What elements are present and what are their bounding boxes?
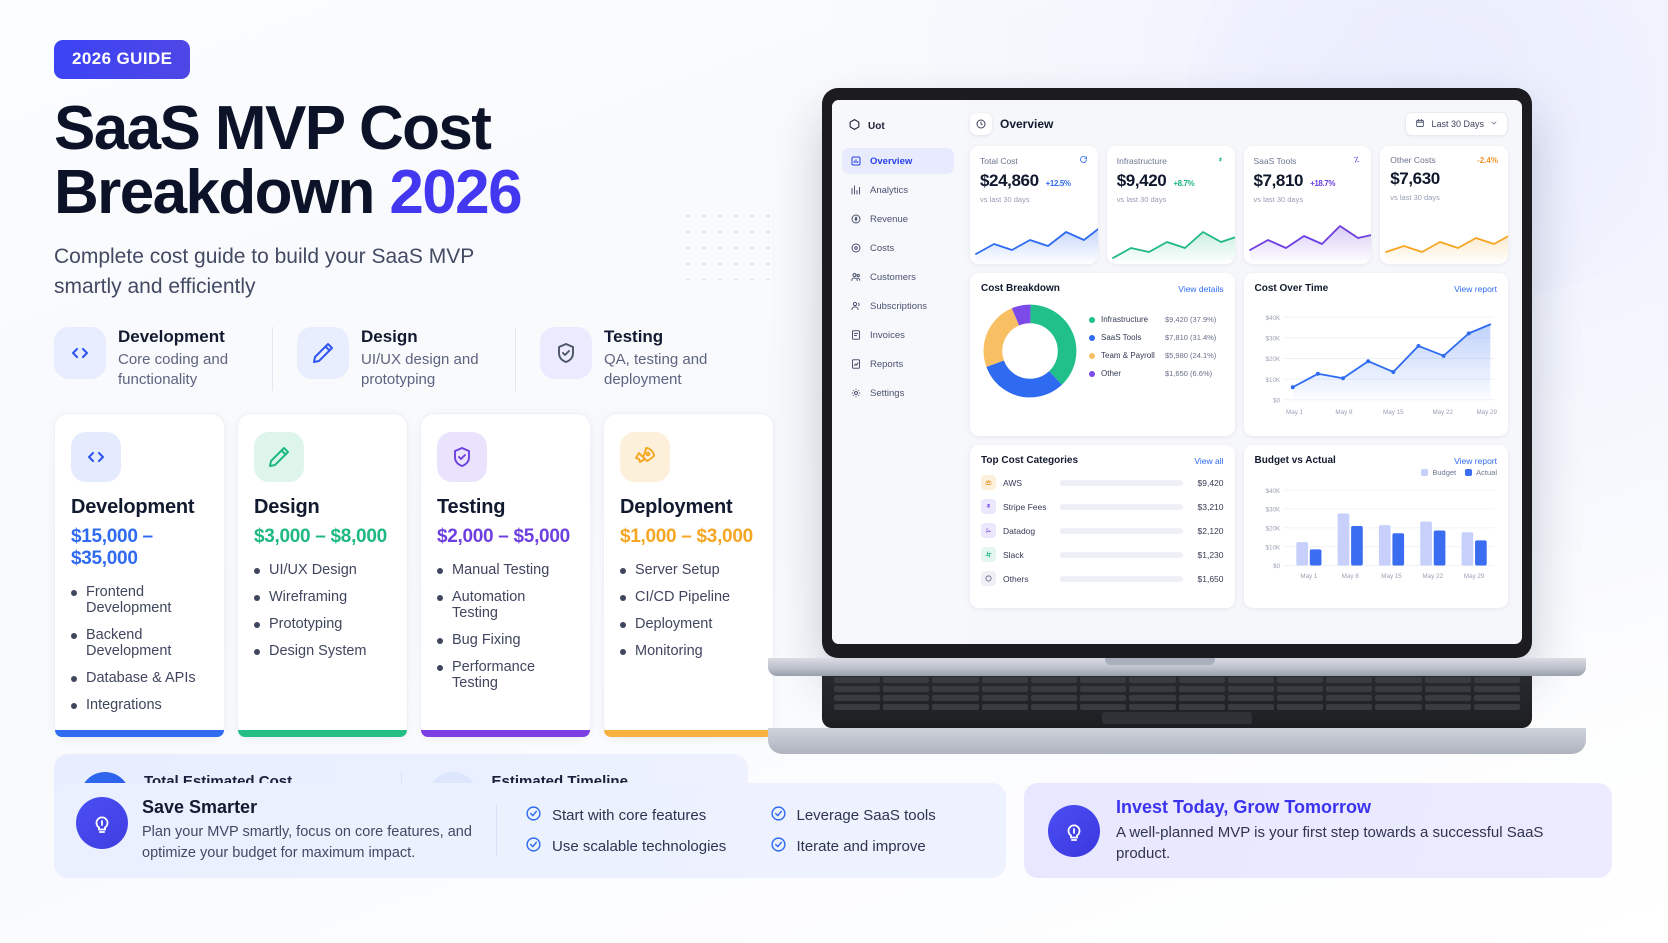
kpi-sub: vs last 30 days xyxy=(1117,195,1225,204)
tip-label: Start with core features xyxy=(552,807,706,824)
panel-title: Budget vs Actual xyxy=(1255,455,1336,466)
kpi-label: Other Costs xyxy=(1390,155,1435,165)
category-row-aws: AWS $9,420 xyxy=(981,475,1224,490)
list-item: Prototyping xyxy=(254,616,391,632)
sidebar-item-overview[interactable]: Overview xyxy=(842,148,954,174)
tip-item: Iterate and improve xyxy=(770,836,985,857)
cost-cards: Development $15,000 – $35,000 Frontend D… xyxy=(54,413,774,738)
view-details-link[interactable]: View details xyxy=(1178,284,1223,294)
shield-check-icon xyxy=(540,327,592,379)
category-name: Stripe Fees xyxy=(1003,502,1053,512)
legend-item-budget: Budget xyxy=(1421,468,1456,477)
datadog-icon xyxy=(981,523,996,538)
sidebar-label: Revenue xyxy=(870,214,908,225)
title-line-1: SaaS MVP Cost xyxy=(54,94,490,163)
save-smarter-title: Save Smarter xyxy=(142,797,480,818)
sidebar-label: Costs xyxy=(870,243,894,254)
sidebar-item-settings[interactable]: Settings xyxy=(842,380,954,406)
legend-label: Actual xyxy=(1476,468,1497,477)
kpi-label: Infrastructure xyxy=(1117,156,1167,166)
kpi-value: $24,860 xyxy=(980,171,1039,191)
sidebar-item-invoices[interactable]: Invoices xyxy=(842,322,954,348)
y-tick: $40K xyxy=(1265,315,1280,322)
kpi-cards: Total Cost $24,860 +12.5% vs last 30 day… xyxy=(970,146,1508,264)
tip-label: Leverage SaaS tools xyxy=(797,807,936,824)
list-item: Frontend Development xyxy=(71,584,208,616)
bars-may-1 xyxy=(1296,542,1321,565)
cost-card-items: Frontend Development Backend Development… xyxy=(71,584,208,713)
check-circle-icon xyxy=(525,836,542,857)
y-tick: $10K xyxy=(1265,544,1280,551)
x-tick: May 15 xyxy=(1381,573,1402,580)
feature-title: Design xyxy=(361,327,493,347)
y-tick: $10K xyxy=(1265,377,1280,384)
cost-card-price: $3,000 – $8,000 xyxy=(254,526,391,548)
kpi-card-infrastructure[interactable]: Infrastructure $9,420 +8.7% vs last 30 d… xyxy=(1107,146,1235,264)
panels-row-1: Cost Breakdown View details xyxy=(970,273,1508,436)
y-tick: $30K xyxy=(1265,507,1280,514)
y-tick: $30K xyxy=(1265,336,1280,343)
panel-top-cost-categories: Top Cost Categories View all AWS $ xyxy=(970,445,1235,608)
sparkline-chart xyxy=(970,218,1098,264)
x-tick: May 8 xyxy=(1341,573,1359,580)
list-item: Database & APIs xyxy=(71,670,208,686)
dashboard-topbar: Overview Last 30 Days xyxy=(970,112,1508,136)
server-icon xyxy=(1216,155,1225,167)
lightbulb-icon xyxy=(1048,805,1100,857)
donut-chart xyxy=(981,302,1079,400)
tip-item: Leverage SaaS tools xyxy=(770,805,985,826)
panel-head: Cost Breakdown View details xyxy=(981,283,1224,294)
feature-design: Design UI/UX design and prototyping xyxy=(272,327,515,391)
sidebar-label: Settings xyxy=(870,388,904,399)
view-report-link[interactable]: View report xyxy=(1454,284,1497,294)
kpi-card-other-costs[interactable]: Other Costs -2.4% $7,630 vs last 30 days xyxy=(1380,146,1508,264)
progress-track xyxy=(1060,480,1183,486)
sidebar-item-costs[interactable]: Costs xyxy=(842,235,954,261)
refresh-icon xyxy=(1079,155,1088,167)
legend-swatch xyxy=(1089,353,1095,359)
sidebar-label: Overview xyxy=(870,156,912,167)
laptop-mockup: Uot Overview Analytics xyxy=(700,70,1620,770)
kpi-sub: vs last 30 days xyxy=(1390,193,1498,202)
dashboard-main: Overview Last 30 Days xyxy=(964,100,1522,644)
legend-value: $5,980 (24.1%) xyxy=(1165,351,1216,360)
legend-label: Infrastructure xyxy=(1101,315,1159,324)
overview-icon xyxy=(970,113,992,135)
keyboard-keys xyxy=(834,677,1520,710)
bar-chart: $40K $30K $20K $10K $0 xyxy=(1255,477,1498,593)
donut-legend: Infrastructure $9,420 (37.9%) SaaS Tools… xyxy=(1089,315,1216,387)
cost-card-title: Development xyxy=(71,496,208,519)
feature-title: Development xyxy=(118,327,250,347)
legend-label: SaaS Tools xyxy=(1101,333,1159,342)
x-tick: May 29 xyxy=(1476,409,1497,416)
donut-wrap: Infrastructure $9,420 (37.9%) SaaS Tools… xyxy=(981,302,1224,400)
category-name: Datadog xyxy=(1003,526,1053,536)
kpi-delta: -2.4% xyxy=(1477,156,1498,165)
panel-title: Top Cost Categories xyxy=(981,455,1078,466)
x-tick: May 1 xyxy=(1300,573,1318,580)
tips-grid: Start with core features Leverage SaaS t… xyxy=(496,805,984,857)
list-item: Integrations xyxy=(71,697,208,713)
page-subtitle: Complete cost guide to build your SaaS M… xyxy=(54,242,524,303)
brand-name: Uot xyxy=(868,121,885,132)
sidebar: Uot Overview Analytics xyxy=(832,100,964,644)
laptop-screen-lid: Uot Overview Analytics xyxy=(822,88,1532,658)
poster-canvas: 2026 GUIDE SaaS MVP Cost Breakdown 2026 … xyxy=(0,0,1668,943)
bars-may-29 xyxy=(1461,532,1486,565)
logo-icon xyxy=(848,118,861,134)
panel-title: Cost Breakdown xyxy=(981,283,1060,294)
laptop-deck xyxy=(768,728,1586,754)
legend-swatch xyxy=(1089,317,1095,323)
panel-head: Top Cost Categories View all xyxy=(981,455,1224,466)
sidebar-label: Customers xyxy=(870,272,916,283)
laptop-screen: Uot Overview Analytics xyxy=(832,100,1522,644)
tip-label: Iterate and improve xyxy=(797,838,926,855)
category-row-stripe-fees: Stripe Fees $3,210 xyxy=(981,499,1224,514)
kpi-label: SaaS Tools xyxy=(1254,156,1297,166)
kpi-delta: +8.7% xyxy=(1173,179,1194,188)
code-icon xyxy=(54,327,106,379)
category-value: $3,210 xyxy=(1190,502,1224,512)
category-row-datadog: Datadog $2,120 xyxy=(981,523,1224,538)
progress-track xyxy=(1060,528,1183,534)
category-name: Others xyxy=(1003,574,1053,584)
page-title: SaaS MVP Cost Breakdown 2026 xyxy=(54,97,774,226)
category-row-others: Others $1,650 xyxy=(981,571,1224,586)
y-tick: $40K xyxy=(1265,488,1280,495)
kpi-value: $9,420 xyxy=(1117,171,1167,191)
sparkline-chart xyxy=(1244,218,1372,264)
kpi-label: Total Cost xyxy=(980,156,1018,166)
feature-desc: UI/UX design and prototyping xyxy=(361,350,493,391)
sparkline-chart xyxy=(1107,218,1235,264)
cost-card-price: $15,000 – $35,000 xyxy=(71,526,208,570)
list-item: Manual Testing xyxy=(437,562,574,578)
save-smarter-desc: Plan your MVP smartly, focus on core fea… xyxy=(142,822,480,863)
shield-check-icon xyxy=(437,432,487,482)
rocket-icon xyxy=(620,432,670,482)
list-item: Backend Development xyxy=(71,627,208,659)
title-line-2: Breakdown xyxy=(54,158,389,227)
legend-label: Team & Payroll xyxy=(1101,351,1159,360)
kpi-value: $7,630 xyxy=(1390,169,1440,189)
chevron-down-icon xyxy=(1490,119,1498,129)
kpi-delta: +18.7% xyxy=(1310,179,1335,188)
list-item: Performance Testing xyxy=(437,659,574,691)
panels-row-2: Top Cost Categories View all AWS $ xyxy=(970,445,1508,608)
kpi-head: SaaS Tools xyxy=(1254,155,1362,167)
x-tick: May 8 xyxy=(1335,409,1353,416)
panel-head: Cost Over Time View report xyxy=(1255,283,1498,294)
list-item: Wireframing xyxy=(254,589,391,605)
view-report-link[interactable]: View report xyxy=(1454,456,1497,466)
invest-title: Invest Today, Grow Tomorrow xyxy=(1116,797,1588,818)
pen-icon xyxy=(297,327,349,379)
chart-legend: Budget Actual xyxy=(1255,468,1498,477)
code-icon xyxy=(71,432,121,482)
sidebar-nav: Overview Analytics Revenue xyxy=(842,148,954,406)
laptop-keyboard xyxy=(822,670,1532,728)
cost-card-development[interactable]: Development $15,000 – $35,000 Frontend D… xyxy=(54,413,225,738)
laptop-notch xyxy=(1105,658,1215,665)
sidebar-item-subscriptions[interactable]: Subscriptions xyxy=(842,293,954,319)
feature-development: Development Core coding and functionalit… xyxy=(54,327,272,391)
category-value: $9,420 xyxy=(1190,478,1224,488)
sidebar-item-analytics[interactable]: Analytics xyxy=(842,177,954,203)
list-item: UI/UX Design xyxy=(254,562,391,578)
legend-value: $7,810 (31.4%) xyxy=(1165,333,1216,342)
category-value: $1,650 xyxy=(1190,574,1224,584)
legend-item: SaaS Tools $7,810 (31.4%) xyxy=(1089,333,1216,342)
progress-track xyxy=(1060,552,1183,558)
legend-swatch xyxy=(1089,335,1095,341)
legend-value: $9,420 (37.9%) xyxy=(1165,315,1216,324)
category-value: $1,230 xyxy=(1190,550,1224,560)
tip-item: Start with core features xyxy=(525,805,740,826)
category-name: Slack xyxy=(1003,550,1053,560)
pen-icon xyxy=(254,432,304,482)
y-tick: $0 xyxy=(1273,398,1280,405)
list-item: Bug Fixing xyxy=(437,632,574,648)
date-filter-label: Last 30 Days xyxy=(1431,119,1484,129)
x-tick: May 1 xyxy=(1285,409,1303,416)
legend-item: Team & Payroll $5,980 (24.1%) xyxy=(1089,351,1216,360)
view-all-link[interactable]: View all xyxy=(1194,456,1223,466)
panel-cost-breakdown: Cost Breakdown View details xyxy=(970,273,1235,436)
invest-bar: Invest Today, Grow Tomorrow A well-plann… xyxy=(1024,783,1612,878)
tip-label: Use scalable technologies xyxy=(552,838,726,855)
bars-may-8 xyxy=(1337,513,1362,565)
sidebar-label: Analytics xyxy=(870,185,908,196)
legend-item-actual: Actual xyxy=(1465,468,1497,477)
feature-row: Development Core coding and functionalit… xyxy=(54,327,774,391)
list-item: Design System xyxy=(254,643,391,659)
keyboard-row xyxy=(834,695,1520,701)
legend-swatch xyxy=(1421,469,1428,476)
feature-desc: Core coding and functionality xyxy=(118,350,250,391)
brand: Uot xyxy=(842,114,954,134)
laptop-trackpad xyxy=(1102,712,1252,724)
keyboard-row xyxy=(834,677,1520,683)
panel-budget-vs-actual: Budget vs Actual View report Budget Actu… xyxy=(1244,445,1509,608)
card-accent-bar xyxy=(55,730,224,737)
cost-card-testing[interactable]: Testing $2,000 – $5,000 Manual Testing A… xyxy=(420,413,591,738)
sidebar-label: Invoices xyxy=(870,330,905,341)
keyboard-row xyxy=(834,686,1520,692)
legend-swatch xyxy=(1089,371,1095,377)
legend-label: Other xyxy=(1101,369,1159,378)
left-content: 2026 GUIDE SaaS MVP Cost Breakdown 2026 … xyxy=(54,40,774,840)
legend-value: $1,650 (6.6%) xyxy=(1165,369,1212,378)
legend-item: Other $1,650 (6.6%) xyxy=(1089,369,1216,378)
panel-title: Cost Over Time xyxy=(1255,283,1329,294)
card-accent-bar xyxy=(421,730,590,737)
kpi-value-row: $7,630 xyxy=(1390,169,1498,189)
cost-card-price: $2,000 – $5,000 xyxy=(437,526,574,548)
others-icon xyxy=(981,571,996,586)
invest-desc: A well-planned MVP is your first step to… xyxy=(1116,822,1588,865)
check-circle-icon xyxy=(770,836,787,857)
date-range-filter[interactable]: Last 30 Days xyxy=(1405,112,1508,136)
y-tick: $0 xyxy=(1273,563,1280,570)
cost-card-items: UI/UX Design Wireframing Prototyping Des… xyxy=(254,562,391,659)
keyboard-row xyxy=(834,704,1520,710)
x-tick: May 22 xyxy=(1422,573,1443,580)
category-name: AWS xyxy=(1003,478,1053,488)
sidebar-label: Reports xyxy=(870,359,903,370)
sidebar-item-revenue[interactable]: Revenue xyxy=(842,206,954,232)
dashboard-app: Uot Overview Analytics xyxy=(832,100,1522,644)
tip-item: Use scalable technologies xyxy=(525,836,740,857)
dashboard-page-title: Overview xyxy=(1000,117,1053,131)
kpi-card-total-cost[interactable]: Total Cost $24,860 +12.5% vs last 30 day… xyxy=(970,146,1098,264)
save-smarter-bar: Save Smarter Plan your MVP smartly, focu… xyxy=(54,783,1006,878)
category-row-slack: Slack $1,230 xyxy=(981,547,1224,562)
kpi-card-saas-tools[interactable]: SaaS Tools $7,810 +18.7% vs last 30 days xyxy=(1244,146,1372,264)
save-smarter-block: Save Smarter Plan your MVP smartly, focu… xyxy=(76,797,496,863)
progress-track xyxy=(1060,504,1183,510)
lightbulb-icon xyxy=(76,797,128,849)
kpi-head: Other Costs -2.4% xyxy=(1390,155,1498,165)
y-tick: $20K xyxy=(1265,356,1280,363)
cost-card-design[interactable]: Design $3,000 – $8,000 UI/UX Design Wire… xyxy=(237,413,408,738)
sparkline-chart xyxy=(1380,218,1508,264)
sidebar-item-reports[interactable]: Reports xyxy=(842,351,954,377)
panel-cost-over-time: Cost Over Time View report xyxy=(1244,273,1509,436)
cost-card-items: Manual Testing Automation Testing Bug Fi… xyxy=(437,562,574,691)
x-tick: May 29 xyxy=(1463,573,1484,580)
legend-label: Budget xyxy=(1432,468,1456,477)
legend-swatch xyxy=(1465,469,1472,476)
list-item: Automation Testing xyxy=(437,589,574,621)
card-accent-bar xyxy=(238,730,407,737)
tools-icon xyxy=(1352,155,1361,167)
kpi-head: Infrastructure xyxy=(1117,155,1225,167)
kpi-value-row: $24,860 +12.5% xyxy=(980,171,1088,191)
category-value: $2,120 xyxy=(1190,526,1224,536)
kpi-value-row: $9,420 +8.7% xyxy=(1117,171,1225,191)
legend-item: Infrastructure $9,420 (37.9%) xyxy=(1089,315,1216,324)
guide-badge: 2026 GUIDE xyxy=(54,40,190,79)
cost-card-title: Design xyxy=(254,496,391,519)
aws-icon xyxy=(981,475,996,490)
title-year: 2026 xyxy=(389,158,521,227)
kpi-head: Total Cost xyxy=(980,155,1088,167)
stripe-icon xyxy=(981,499,996,514)
sidebar-item-customers[interactable]: Customers xyxy=(842,264,954,290)
bars-may-15 xyxy=(1378,525,1403,565)
panel-head: Budget vs Actual View report xyxy=(1255,455,1498,466)
sidebar-label: Subscriptions xyxy=(870,301,927,312)
kpi-sub: vs last 30 days xyxy=(980,195,1088,204)
area-chart: $40K $30K $20K $10K $0 May 1 May 8 xyxy=(1255,298,1498,428)
check-circle-icon xyxy=(525,805,542,826)
cost-card-title: Testing xyxy=(437,496,574,519)
x-tick: May 15 xyxy=(1383,409,1404,416)
kpi-sub: vs last 30 days xyxy=(1254,195,1362,204)
y-tick: $20K xyxy=(1265,526,1280,533)
check-circle-icon xyxy=(770,805,787,826)
kpi-delta: +12.5% xyxy=(1046,179,1071,188)
topbar-left: Overview xyxy=(970,113,1053,135)
slack-icon xyxy=(981,547,996,562)
progress-track xyxy=(1060,576,1183,582)
kpi-value: $7,810 xyxy=(1254,171,1304,191)
calendar-icon xyxy=(1415,118,1425,130)
kpi-value-row: $7,810 +18.7% xyxy=(1254,171,1362,191)
x-tick: May 22 xyxy=(1432,409,1453,416)
